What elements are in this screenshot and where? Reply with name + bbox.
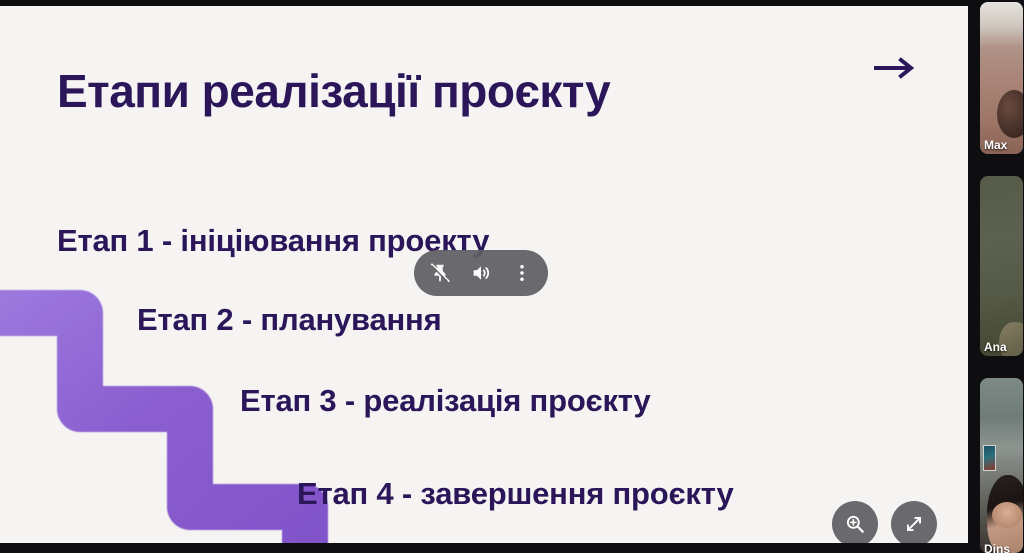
volume-up-icon [470,262,492,284]
more-options-button[interactable] [505,256,539,290]
participant-video-feed [980,176,1023,356]
arrow-right-icon [872,50,918,86]
background-poster [983,445,996,471]
shared-screen-stage[interactable]: Етапи реалізації проєкту Етап 1 - ініцію… [0,0,975,553]
slide-stage-line-4: Етап 4 - завершення проєкту [297,476,734,512]
participant-silhouette [997,90,1023,138]
zoom-in-button[interactable] [832,501,878,547]
participants-filmstrip[interactable]: Max Ana Dins [975,0,1024,553]
participant-name-label: Dins [984,542,1021,553]
meeting-app: Етапи реалізації проєкту Етап 1 - ініцію… [0,0,1024,553]
unpin-button[interactable] [423,256,457,290]
participant-name-label: Ana [984,340,1021,354]
fullscreen-button[interactable] [891,501,937,547]
volume-button[interactable] [464,256,498,290]
stage-bottom-letterbox [0,543,975,553]
zoom-in-icon [844,513,866,535]
participant-video-feed [980,2,1023,154]
fullscreen-expand-icon [903,513,925,535]
participant-tile[interactable]: Dins [980,378,1023,553]
page-title: Етапи реалізації проєкту [57,64,610,118]
participant-tile[interactable]: Ana [980,176,1023,356]
participant-tile[interactable]: Max [980,2,1023,154]
more-vert-icon [511,262,533,284]
slide-stage-line-3: Етап 3 - реалізація проєкту [240,383,651,419]
slide-stage-line-2: Етап 2 - планування [137,302,441,338]
presentation-controls-toolbar[interactable] [414,250,548,296]
participant-video-feed [980,378,1023,553]
participant-name-label: Max [984,138,1021,152]
pin-off-icon [429,262,451,284]
